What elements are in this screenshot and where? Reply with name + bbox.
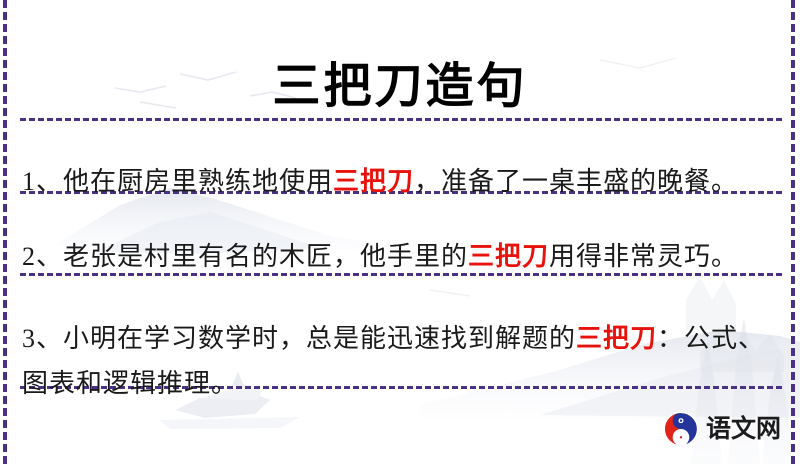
sentence-text-2a: 老张是村里有名的木匠，他手里的 xyxy=(63,242,468,271)
keyword-highlight-2: 三把刀 xyxy=(468,242,549,271)
keyword-highlight-1: 三把刀 xyxy=(333,167,414,196)
sentence-item-3: 3、小明在学习数学时，总是能迅速找到解题的三把刀：公式、图表和逻辑推理。 xyxy=(22,316,774,406)
sentence-item-2: 2、老张是村里有名的木匠，他手里的三把刀用得非常灵巧。 xyxy=(22,234,774,279)
separator-rule-1 xyxy=(20,118,782,121)
site-watermark: 语文网 xyxy=(662,410,781,448)
document-page: 三把刀造句 1、他在厨房里熟练地使用三把刀，准备了一桌丰盛的晚餐。 2、老张是村… xyxy=(0,0,800,464)
keyword-highlight-3: 三把刀 xyxy=(576,324,657,353)
sentence-text-2b: 用得非常灵巧。 xyxy=(549,242,738,271)
sentence-number-2: 2、 xyxy=(22,242,63,271)
sentence-number-1: 1、 xyxy=(22,167,63,196)
sentence-number-3: 3、 xyxy=(22,324,63,353)
yinyang-fish-logo-icon xyxy=(662,410,700,448)
sentence-item-1: 1、他在厨房里熟练地使用三把刀，准备了一桌丰盛的晚餐。 xyxy=(22,159,774,204)
sentence-text-3a: 小明在学习数学时，总是能迅速找到解题的 xyxy=(63,324,576,353)
page-title: 三把刀造句 xyxy=(0,58,800,116)
sentence-text-1a: 他在厨房里熟练地使用 xyxy=(63,167,333,196)
sentence-text-1b: ，准备了一桌丰盛的晚餐。 xyxy=(414,167,738,196)
watermark-label: 语文网 xyxy=(706,414,781,444)
